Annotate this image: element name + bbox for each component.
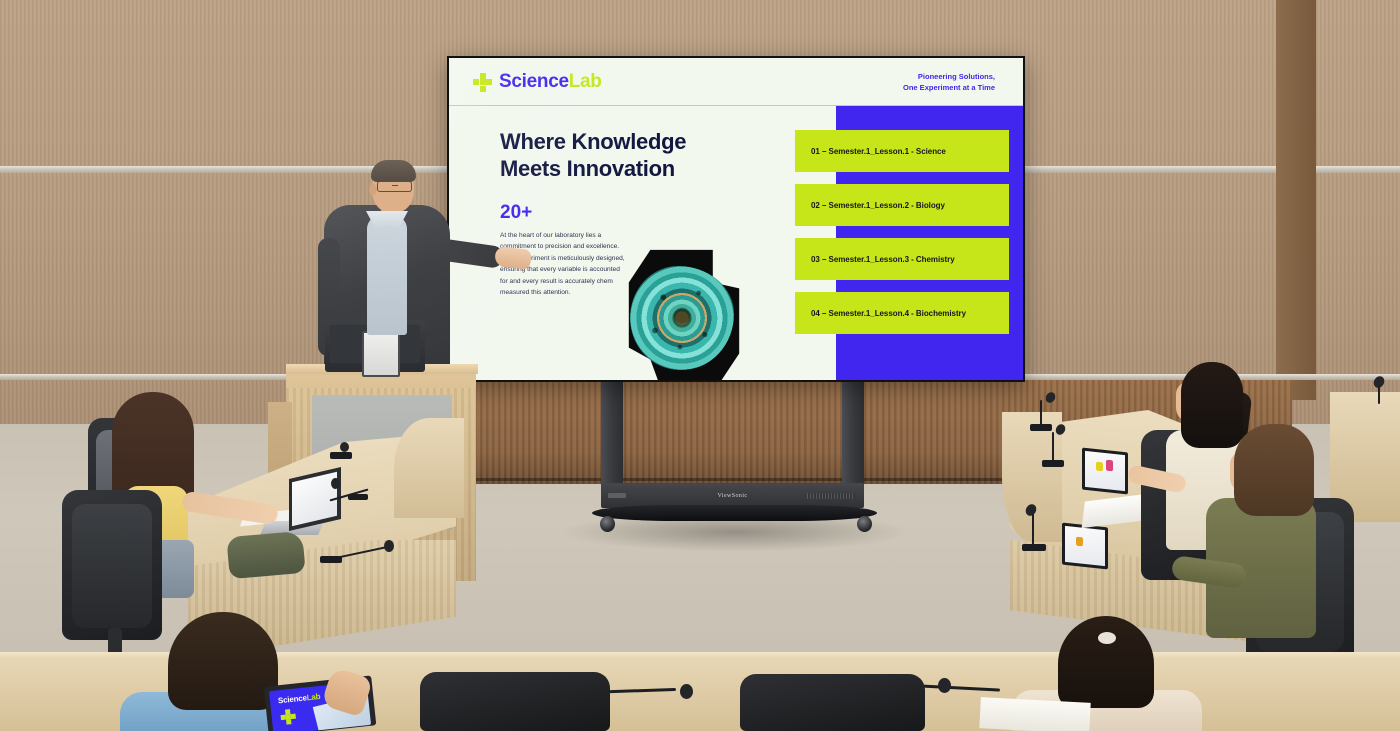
brand-word-primary: Science xyxy=(499,71,569,92)
tagline-line-2: One Experiment at a Time xyxy=(903,82,995,93)
tablet-right-upper-screen[interactable] xyxy=(1085,451,1125,491)
laptop-brand-secondary: Lab xyxy=(306,692,320,702)
brand-lockup: ScienceLab xyxy=(473,71,602,93)
microphone-arm-right-3 xyxy=(1032,512,1034,546)
tablet-right-lower-graphic xyxy=(1076,537,1083,547)
microphone-base-left-1 xyxy=(320,556,342,563)
list-item[interactable]: 03 – Semester.1_Lesson.3 - Chemistry xyxy=(795,238,1009,280)
list-item[interactable]: 01 – Semester.1_Lesson.1 - Science xyxy=(795,130,1009,172)
desk-left-edge xyxy=(394,418,464,518)
microphone-base-right-2 xyxy=(1042,460,1064,467)
laptop-brand-primary: Science xyxy=(278,693,308,705)
presenter-shirt-front xyxy=(367,215,407,335)
chair-foreground-2[interactable] xyxy=(740,674,925,731)
backpack xyxy=(226,531,305,579)
slide-body: Where Knowledge Meets Innovation 20+ At … xyxy=(449,106,1023,380)
microphone-head-left-3 xyxy=(340,442,349,452)
plus-squares-logo-icon xyxy=(473,73,492,92)
display-brand-label: ViewSonic xyxy=(718,493,748,499)
list-item[interactable]: 04 – Semester.1_Lesson.4 - Biochemistry xyxy=(795,292,1009,334)
tablet-right-upper-graphic xyxy=(1096,462,1103,472)
slide-title: Where Knowledge Meets Innovation xyxy=(500,128,740,182)
lesson-label: 04 – Semester.1_Lesson.4 - Biochemistry xyxy=(811,309,966,318)
slide-title-line-1: Where Knowledge xyxy=(500,128,740,155)
chair-left-front-cushion xyxy=(72,504,152,628)
presenter-hair xyxy=(371,160,416,182)
presenter-ear xyxy=(369,184,377,195)
tagline-line-1: Pioneering Solutions, xyxy=(903,71,995,82)
paper-foreground-right xyxy=(979,697,1090,731)
microphone-head-front-3 xyxy=(938,678,951,693)
student-foreground-right-hairtie xyxy=(1098,632,1116,644)
lesson-label: 02 – Semester.1_Lesson.2 - Biology xyxy=(811,201,945,210)
laptop-plus-squares-logo-icon xyxy=(280,709,296,725)
tablet-right-upper-graphic-2 xyxy=(1106,460,1113,472)
microphone-base-left-3 xyxy=(330,452,352,459)
student-right-2-hair xyxy=(1234,424,1314,516)
microphone-arm-right-2 xyxy=(1052,432,1054,462)
lesson-label: 03 – Semester.1_Lesson.3 - Chemistry xyxy=(811,255,955,264)
chair-foreground-1[interactable] xyxy=(420,672,610,731)
laptop-brand-wordmark: ScienceLab xyxy=(278,692,321,705)
microphone-head-front-2 xyxy=(680,684,693,699)
microphone-arm-right-far xyxy=(1378,386,1380,404)
brand-wordmark: ScienceLab xyxy=(499,71,602,93)
presentation-slide[interactable]: ScienceLab Pioneering Solutions, One Exp… xyxy=(449,58,1023,380)
student-right-1-hair xyxy=(1181,362,1243,448)
lesson-label: 01 – Semester.1_Lesson.1 - Science xyxy=(811,147,946,156)
microscopy-detail-overlay xyxy=(630,266,734,370)
brand-word-secondary: Lab xyxy=(569,71,602,92)
student-foreground-left-head xyxy=(168,612,278,710)
podium-tablet[interactable] xyxy=(362,331,400,377)
lesson-list: 01 – Semester.1_Lesson.1 - Science 02 – … xyxy=(795,130,1009,334)
wall-column-right xyxy=(1276,0,1316,400)
list-item[interactable]: 02 – Semester.1_Lesson.2 - Biology xyxy=(795,184,1009,226)
microphone-base-left-2 xyxy=(348,494,368,500)
microphone-head-left-1 xyxy=(384,540,394,552)
slide-tagline: Pioneering Solutions, One Experiment at … xyxy=(903,71,995,93)
soundbar-badge xyxy=(608,493,626,498)
soundbar-vent xyxy=(807,493,855,499)
cart-shadow xyxy=(560,512,910,552)
microphone-base-right-3 xyxy=(1022,544,1046,551)
presenter-glasses xyxy=(377,181,412,192)
microphone-arm-right-1 xyxy=(1040,400,1042,426)
microphone-base-right-1 xyxy=(1030,424,1052,431)
lecture-hall-scene: ViewSonic ScienceLab Pioneering Solution… xyxy=(0,0,1400,731)
slide-header: ScienceLab Pioneering Solutions, One Exp… xyxy=(449,58,1023,106)
microscopy-figure xyxy=(624,244,744,380)
stat-number: 20+ xyxy=(500,202,532,224)
microphone-head-left-2 xyxy=(331,478,340,489)
tablet-right-lower-screen[interactable] xyxy=(1065,526,1105,566)
student-foreground-right-head xyxy=(1058,616,1154,708)
slide-title-line-2: Meets Innovation xyxy=(500,155,740,182)
